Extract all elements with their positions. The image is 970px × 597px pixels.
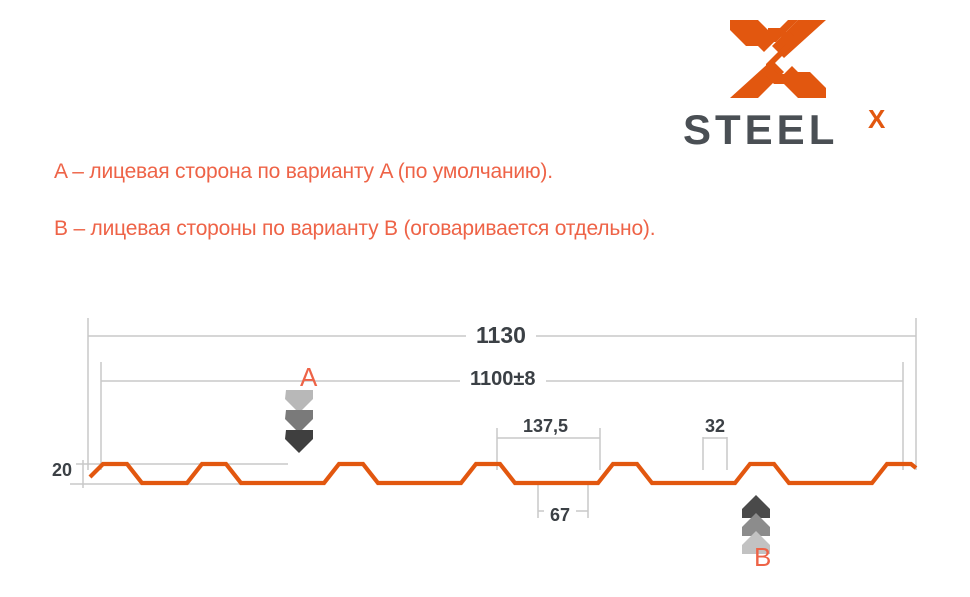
dimension-label-overall-width: 1130 [466, 322, 536, 349]
dimension-label-rib-crest-width: 32 [700, 416, 730, 437]
variant-b-marker-letter: B [754, 542, 771, 573]
trapezoidal-profile-line [90, 464, 916, 483]
profile-spec-sheet: STEEL X A – лицевая сторона по варианту … [0, 0, 970, 597]
dimension-label-rib-pitch: 137,5 [517, 416, 574, 437]
dimension-label-covering-width: 1100±8 [460, 368, 546, 391]
dimension-label-profile-height: 20 [48, 460, 76, 481]
variant-a-marker-icon [285, 390, 313, 453]
variant-a-marker-letter: A [300, 362, 317, 393]
profile-technical-drawing [0, 0, 970, 597]
dimension-label-valley-width: 67 [544, 505, 576, 526]
